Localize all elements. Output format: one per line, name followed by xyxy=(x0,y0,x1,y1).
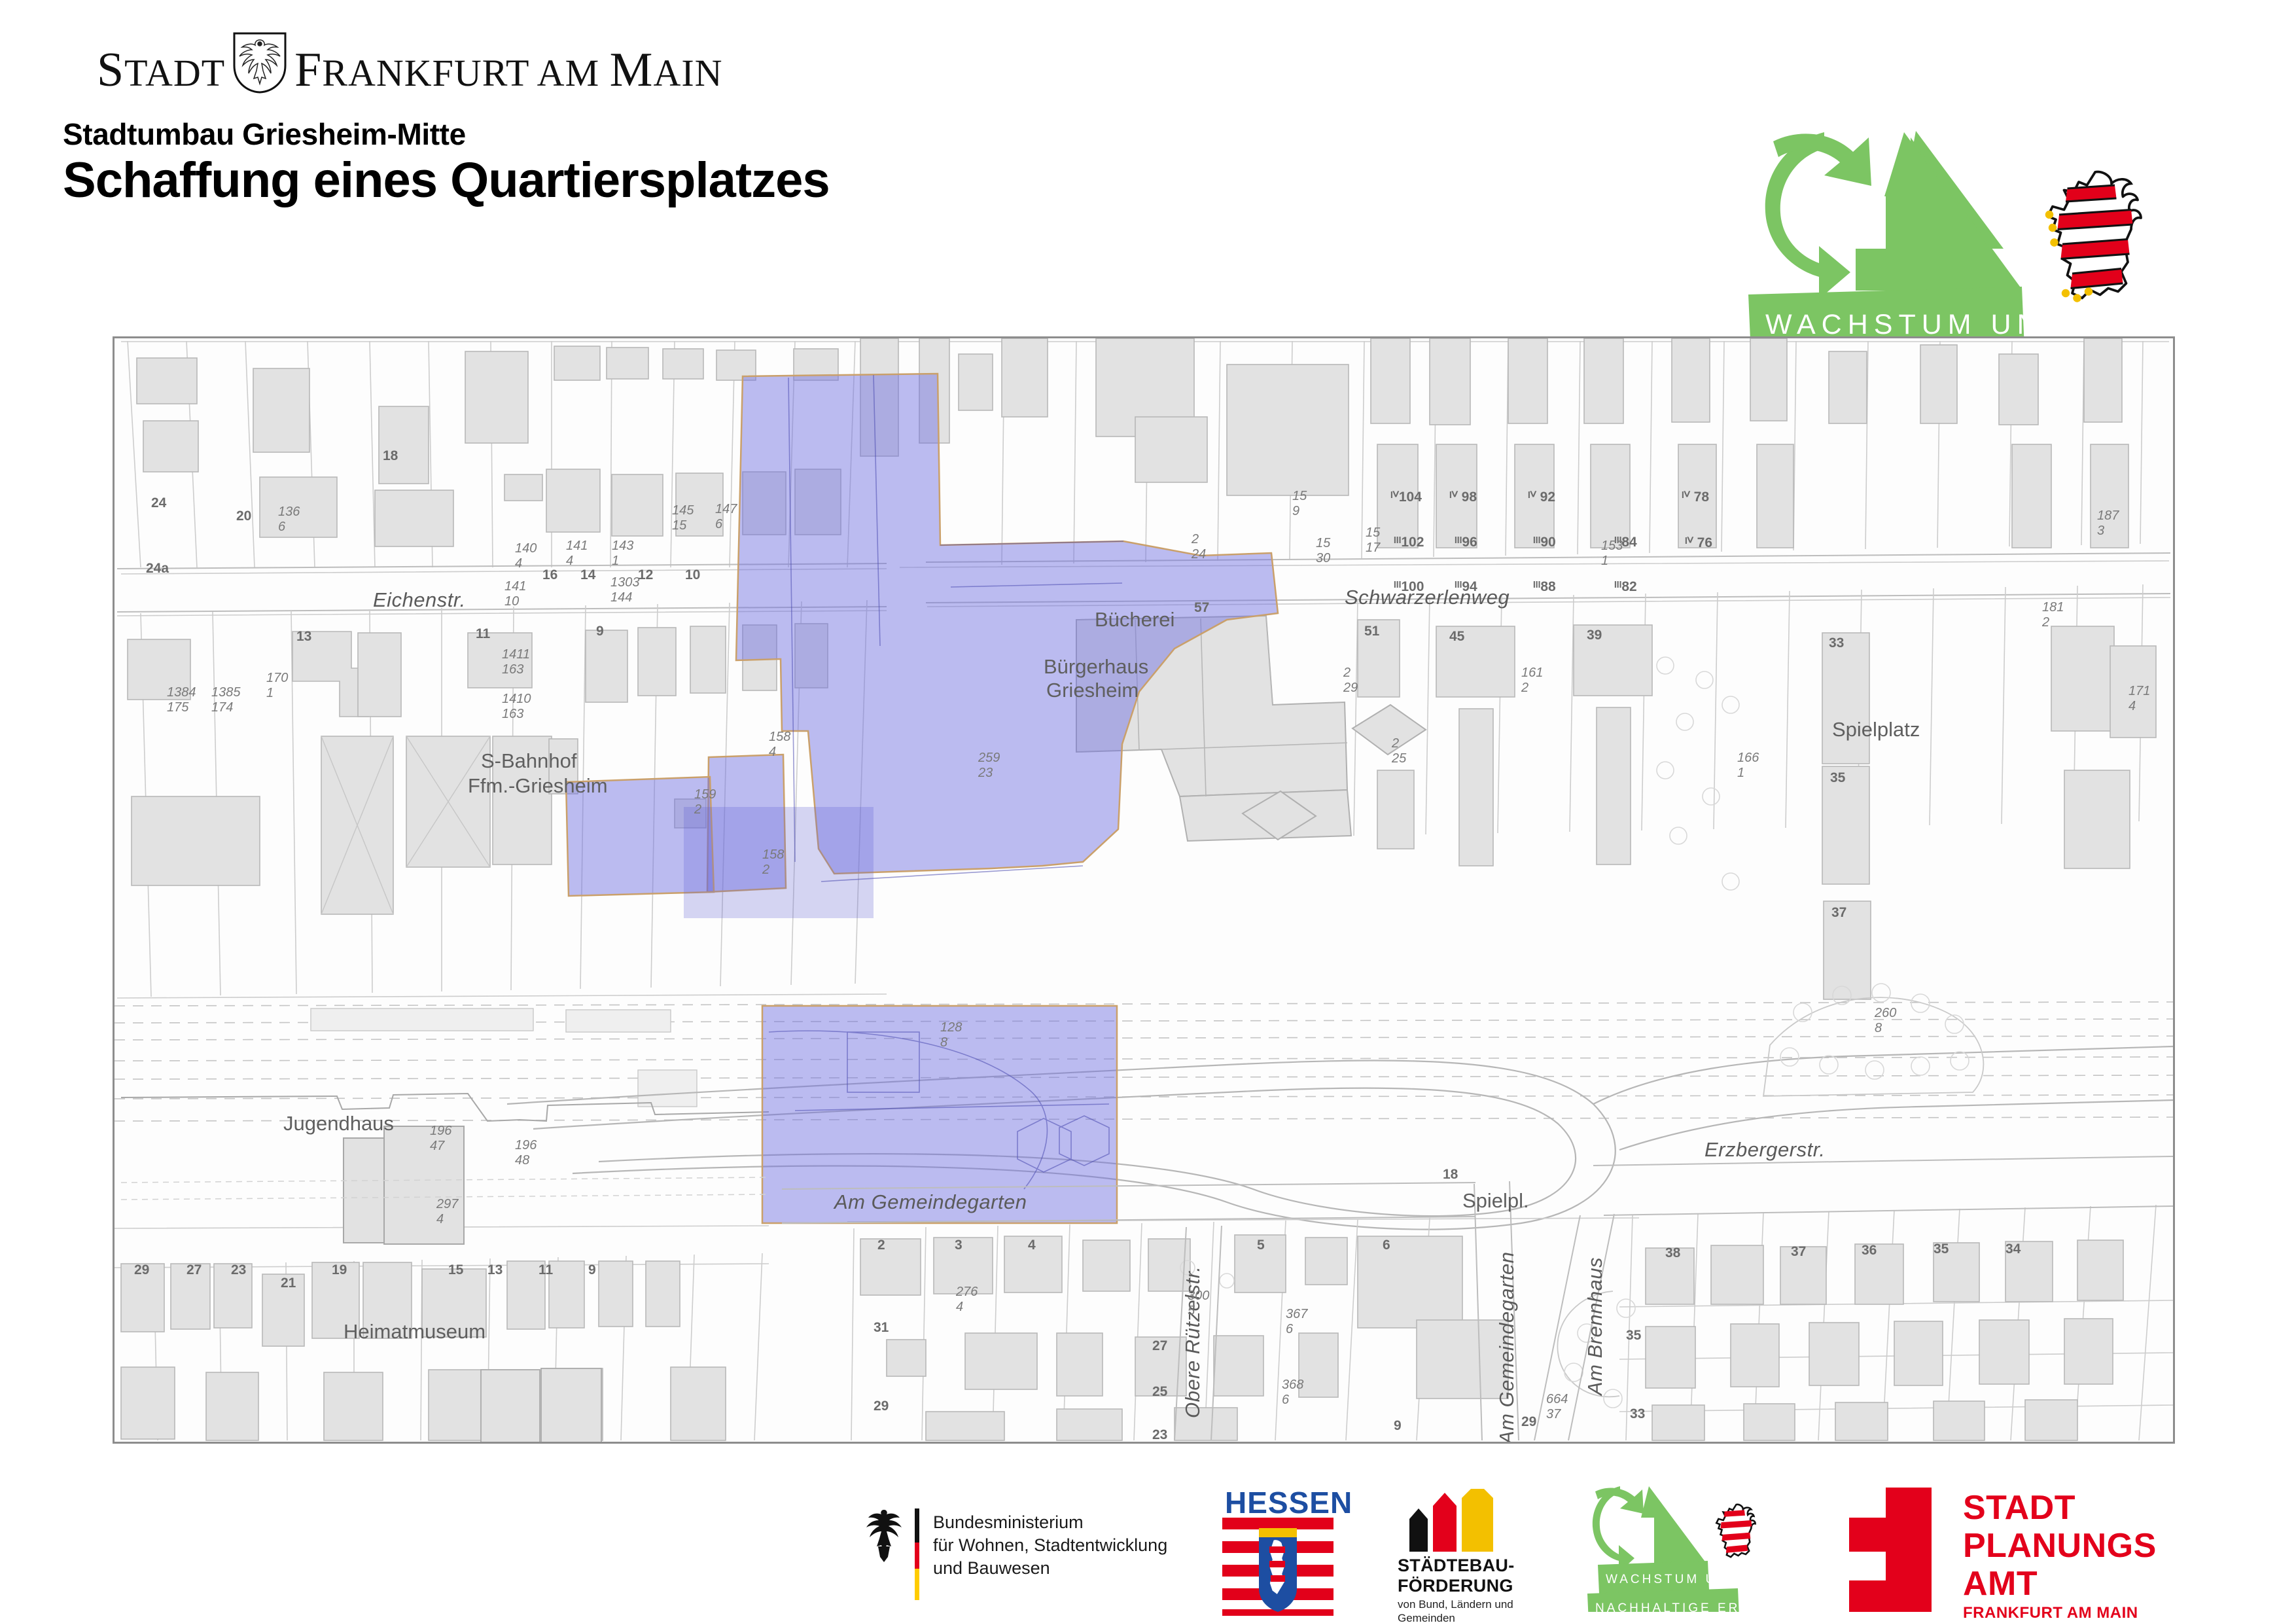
city-logo-word-stadt: SSTADTTADT xyxy=(97,46,225,94)
cadastral-map[interactable]: Eichenstr. Schwarzerlenweg Erzbergerstr.… xyxy=(113,336,2175,1444)
flag-bar-red xyxy=(915,1543,919,1569)
staedtebau-sub-2: Gemeinden xyxy=(1398,1611,1513,1623)
frankfurt-eagle-crest-icon xyxy=(232,31,288,94)
stadtplanungsamt-logo: STADT PLANUNGS AMT FRANKFURT AM MAIN xyxy=(1832,1482,2199,1613)
footer-program-line-2: NACHHALTIGE ERNEUERUNG xyxy=(1595,1601,1799,1612)
stadt-frankfurt-logo: SSTADTTADT FRANKFURT AM MAIN xyxy=(97,31,542,94)
staedtebau-line-2: FÖRDERUNG xyxy=(1398,1576,1515,1596)
bmwsb-line-3: und Bauwesen xyxy=(933,1557,1167,1580)
three-houses-icon xyxy=(1396,1489,1527,1554)
staedtebau-line-1: STÄDTEBAU- xyxy=(1398,1556,1515,1576)
staedtebaufoerderung-logo: STÄDTEBAU- FÖRDERUNG von Bund, Ländern u… xyxy=(1394,1489,1557,1613)
spa-line-1: STADT xyxy=(1963,1489,2157,1527)
staedtebau-sub-1: von Bund, Ländern und xyxy=(1398,1597,1513,1611)
page-subtitle: Stadtumbau Griesheim-Mitte xyxy=(63,116,466,152)
footer-program-line-1: WACHSTUM UND xyxy=(1606,1573,1740,1586)
hessen-wordmark: HESSEN xyxy=(1225,1485,1352,1520)
jugendhaus-building xyxy=(344,1126,464,1244)
recycle-arrow-icon xyxy=(1765,130,1871,299)
spa-line-3: AMT xyxy=(1963,1565,2157,1603)
footer-logo-bar: Bundesministerium für Wohnen, Stadtentwi… xyxy=(0,1476,2296,1620)
program-line-1: WACHSTUM UND xyxy=(1765,309,2070,340)
spa-subline: FRANKFURT AM MAIN xyxy=(1963,1604,2138,1622)
page-title: Schaffung eines Quartiersplatzes xyxy=(63,152,830,209)
frankfurt-f-mark-icon xyxy=(1832,1488,1943,1612)
bmwsb-logo: Bundesministerium für Wohnen, Stadtentwi… xyxy=(864,1497,1165,1595)
hessen-shield-icon xyxy=(1222,1518,1333,1616)
hessen-lion-icon xyxy=(2045,172,2141,302)
program-logo-footer: WACHSTUM UND NACHHALTIGE ERNEUERUNG STÄD… xyxy=(1583,1481,1799,1612)
highlight-inner-patch xyxy=(684,807,874,918)
spa-line-2: PLANUNGS xyxy=(1963,1527,2157,1565)
hessen-logo: HESSEN xyxy=(1222,1485,1347,1609)
poster-page: SSTADTTADT FRANKFURT AM MAIN Stadtumbau … xyxy=(0,0,2296,1623)
bmwsb-line-2: für Wohnen, Stadtentwicklung xyxy=(933,1534,1167,1557)
flag-bar-gold xyxy=(915,1569,919,1600)
heimatmuseum-buildings xyxy=(481,1368,601,1442)
flag-bar-black xyxy=(915,1508,919,1543)
bmwsb-line-1: Bundesministerium xyxy=(933,1511,1167,1534)
bundesadler-icon xyxy=(864,1507,904,1573)
city-logo-word-frankfurt: FRANKFURT AM MAIN xyxy=(294,46,722,94)
